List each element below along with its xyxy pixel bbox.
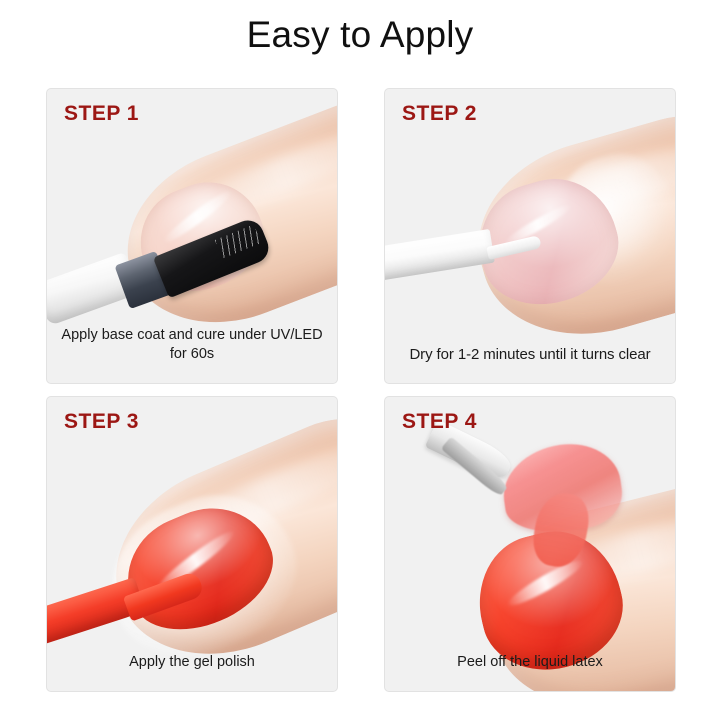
step-label-2: STEP 2 — [402, 102, 477, 126]
step-panel-4: STEP 4 Peel off the liquid latex — [384, 396, 676, 692]
step-panel-3: STEP 3 Apply the gel polish — [46, 396, 338, 692]
step-caption-4: Peel off the liquid latex — [393, 653, 667, 673]
step-label-3: STEP 3 — [64, 410, 139, 434]
step-panel-1: STEP 1 Apply base coat and cure under UV… — [46, 88, 338, 384]
step-caption-3: Apply the gel polish — [55, 653, 329, 673]
step-2-illustration — [385, 89, 675, 383]
step-caption-2: Dry for 1-2 minutes until it turns clear — [393, 345, 667, 365]
page-title: Easy to Apply — [0, 14, 720, 56]
step-4-illustration — [385, 397, 675, 691]
step-label-1: STEP 1 — [64, 102, 139, 126]
step-caption-1: Apply base coat and cure under UV/LED fo… — [55, 326, 329, 365]
white-applicator-handle — [385, 229, 495, 283]
instruction-infographic: Easy to Apply STEP 1 Apply base coat and… — [0, 0, 720, 720]
steps-grid: STEP 1 Apply base coat and cure under UV… — [46, 88, 676, 692]
step-panel-2: STEP 2 Dry for 1-2 minutes until it turn… — [384, 88, 676, 384]
step-label-4: STEP 4 — [402, 410, 477, 434]
step-3-illustration — [47, 397, 337, 691]
